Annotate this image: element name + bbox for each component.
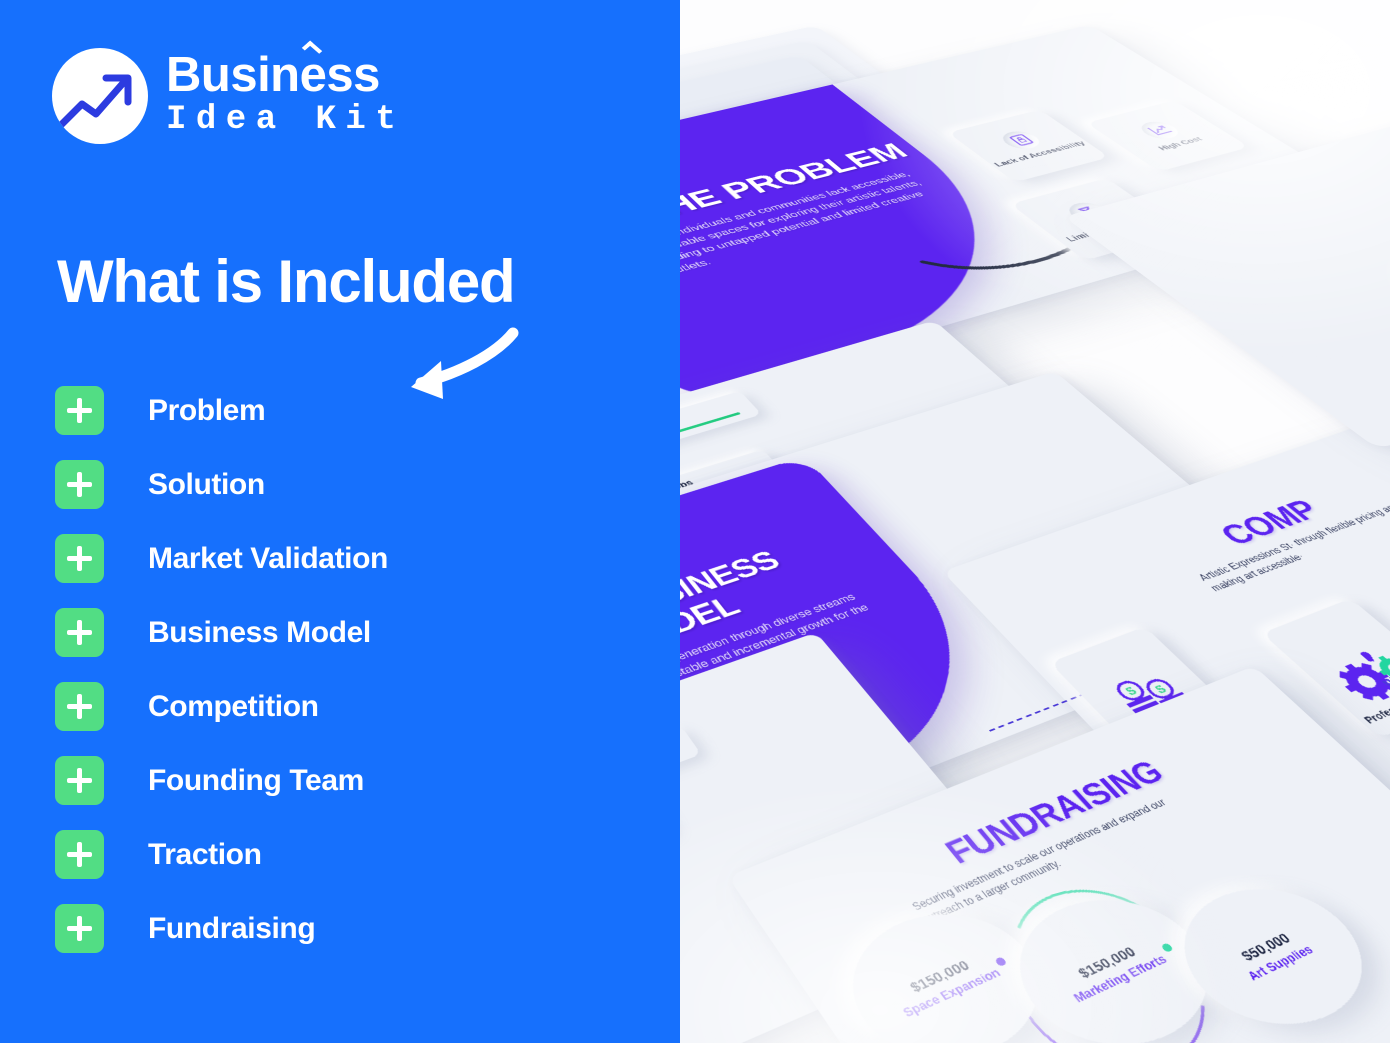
- page-title: What is Included: [57, 247, 515, 316]
- feature-label: Fundraising: [148, 912, 315, 946]
- feature-item-competition[interactable]: Competition: [55, 682, 655, 731]
- plus-icon: [55, 830, 104, 879]
- feature-item-market-validation[interactable]: Market Validation: [55, 534, 655, 583]
- feature-label: Traction: [148, 838, 262, 872]
- feature-item-solution[interactable]: Solution: [55, 460, 655, 509]
- svg-text:$: $: [1123, 685, 1141, 699]
- feature-label: Business Model: [148, 616, 371, 650]
- brand-logo[interactable]: Business Idea Kit: [52, 48, 405, 144]
- plus-icon: [55, 460, 104, 509]
- plus-icon: [55, 904, 104, 953]
- plus-icon: [55, 386, 104, 435]
- plus-icon: [55, 682, 104, 731]
- growth-chart-arrow-icon: [52, 48, 148, 144]
- problem-tile-accessibility[interactable]: Lack of Accessibility: [948, 110, 1109, 183]
- brand-name-secondary: Idea Kit: [166, 101, 405, 140]
- plus-icon: [55, 756, 104, 805]
- feature-item-founding-team[interactable]: Founding Team: [55, 756, 655, 805]
- brand-name-primary-text: Business: [166, 48, 380, 102]
- feature-list: Problem Solution Market Validation Busin…: [55, 386, 655, 978]
- feature-label: Founding Team: [148, 764, 364, 798]
- feature-item-traction[interactable]: Traction: [55, 830, 655, 879]
- brand-name-primary: Business: [166, 51, 405, 99]
- rising-chart-icon: [1135, 119, 1186, 141]
- feature-item-fundraising[interactable]: Fundraising: [55, 904, 655, 953]
- solution-blob[interactable]: Acc· Spa·: [1379, 232, 1390, 339]
- locked-document-icon: [996, 129, 1046, 152]
- plus-icon: [55, 608, 104, 657]
- feature-label: Solution: [148, 468, 265, 502]
- feature-label: Competition: [148, 690, 319, 724]
- feature-item-problem[interactable]: Problem: [55, 386, 655, 435]
- brand-logo-text: Business Idea Kit: [166, 51, 405, 140]
- gears-brush-icon: [1318, 640, 1390, 709]
- feature-item-business-model[interactable]: Business Model: [55, 608, 655, 657]
- feature-label: Problem: [148, 394, 265, 428]
- feature-label: Market Validation: [148, 542, 388, 576]
- problem-tile-high-cost[interactable]: High Cost: [1086, 100, 1249, 171]
- left-info-panel: Business Idea Kit What is Included Probl…: [0, 0, 680, 1043]
- plus-icon: [55, 534, 104, 583]
